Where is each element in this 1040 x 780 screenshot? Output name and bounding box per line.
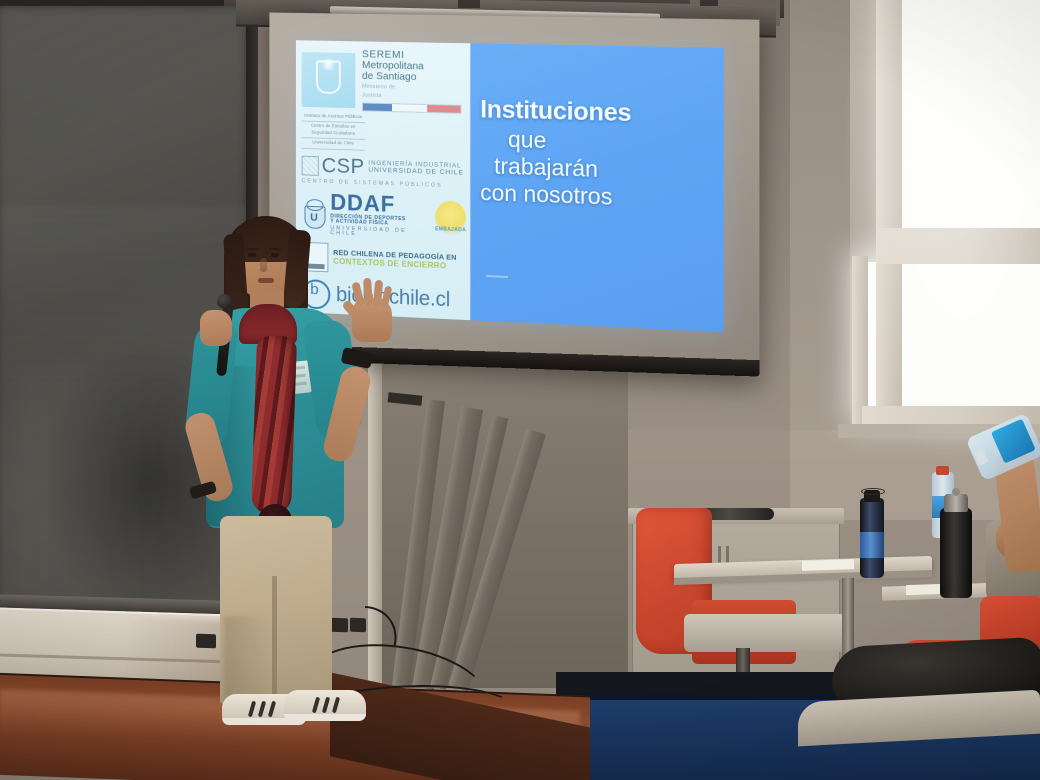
bottle-carry-loop (861, 488, 885, 495)
chile-coat-of-arms-icon (302, 52, 356, 108)
classroom-presentation-photo: SEREMI Metropolitana de Santiago Ministe… (0, 0, 1040, 780)
screen-bracket-right (700, 0, 718, 6)
presenter-nose (260, 258, 267, 272)
screen-bracket-left (458, 0, 480, 8)
slide-title: Instituciones que trabajarán con nosotro… (480, 95, 715, 214)
sneaker-sole (284, 714, 366, 721)
slide-title-panel: Instituciones que trabajarán con nosotro… (470, 43, 724, 332)
ddaf-acronym: DDAF (330, 190, 427, 216)
presenter-finger (363, 278, 373, 306)
window-jamb (852, 256, 868, 428)
presenter-eye (271, 253, 279, 257)
embassy-badge-label: EMBAJADA (435, 226, 466, 233)
bottle-label (860, 532, 884, 558)
presenter-plaid-scarf (251, 335, 297, 514)
paper-sheet (802, 559, 854, 571)
inap-line2: Centro de Estudios en Seguridad Ciudadan… (302, 121, 365, 137)
thermos-flask (940, 508, 972, 598)
window-mullion-horizontal (876, 228, 1040, 264)
presenter-trouser-fold (224, 616, 268, 706)
held-bottle-cap (973, 447, 989, 466)
thermos-cap (944, 494, 968, 512)
inap-line3: Universidad de Chile (302, 137, 365, 147)
seremi-ministry-line2: Justicia (362, 93, 461, 102)
desk-tablet-arm (684, 614, 846, 652)
presenter (176, 216, 416, 726)
blue-water-bottle (860, 498, 884, 578)
csp-mark-icon (302, 155, 319, 175)
presenter-trouser-seam (272, 576, 277, 704)
held-bottle-label (991, 419, 1036, 464)
embassy-emblem-icon: EMBAJADA (435, 201, 466, 236)
logo-inap: Instituto de Asuntos Públicos Centro de … (302, 113, 365, 151)
logo-seremi: SEREMI Metropolitana de Santiago Ministe… (302, 48, 467, 114)
presenter-left-hand (200, 310, 232, 346)
inap-line1: Instituto de Asuntos Públicos (304, 113, 362, 119)
seremi-text-block: SEREMI Metropolitana de Santiago Ministe… (362, 49, 461, 114)
presenter-mouth (258, 278, 274, 283)
seremi-line3: de Santiago (362, 71, 461, 84)
thermos-knob (952, 488, 960, 496)
csp-acronym: CSP (322, 154, 365, 179)
window-upper (900, 0, 1040, 232)
chile-flag-bar-icon (362, 102, 461, 113)
csp-right-line2: UNIVERSIDAD DE CHILE (368, 167, 463, 178)
water-bottle-cap (936, 466, 949, 475)
slide-dash-mark (486, 275, 508, 278)
presenter-eye (248, 253, 256, 257)
microphone-head-icon (217, 294, 232, 309)
seremi-ministry-line1: Ministerio de (362, 84, 461, 93)
window-mullion-vertical (876, 0, 902, 420)
csp-right-text: INGENIERÍA INDUSTRIAL UNIVERSIDAD DE CHI… (368, 160, 463, 178)
